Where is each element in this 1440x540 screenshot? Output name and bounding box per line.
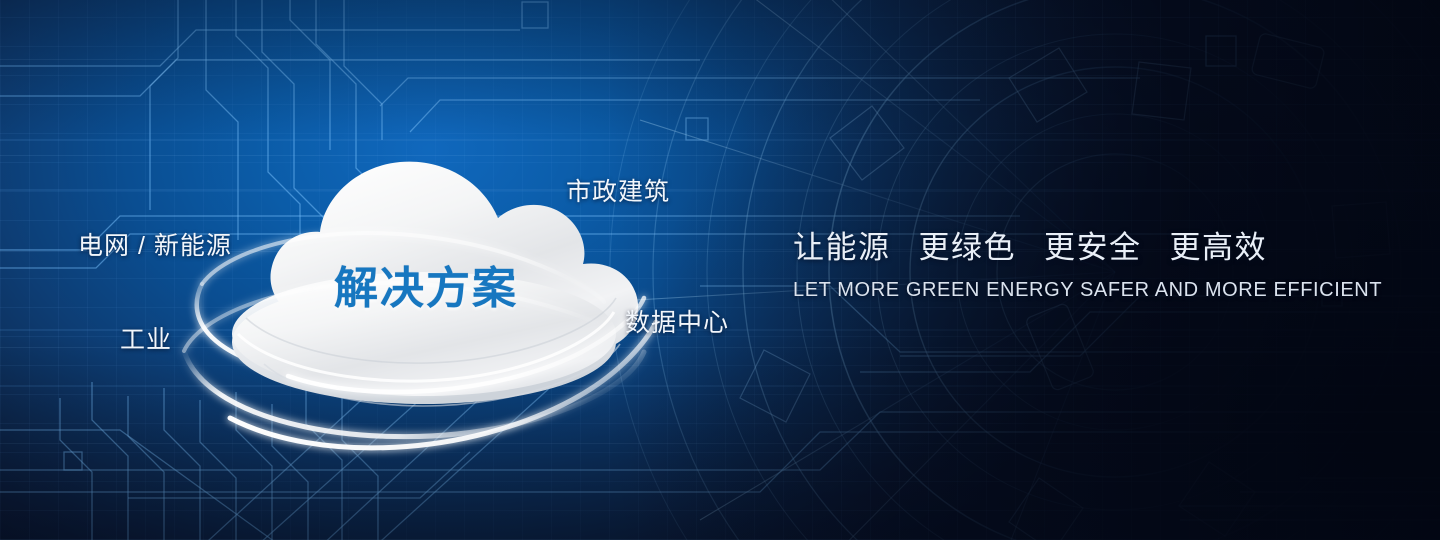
slogan-part-1: 让能源 (793, 222, 891, 267)
slogan-part-2: 更绿色 (919, 222, 1017, 267)
slogan-chinese: 让能源 更绿色 更安全 更高效 (793, 222, 1333, 267)
cloud-title: 解决方案 (334, 252, 518, 316)
slogan-block: 让能源 更绿色 更安全 更高效 LET MORE GREEN ENERGY SA… (793, 222, 1333, 302)
label-data-center: 数据中心 (625, 303, 729, 339)
label-grid-new-energy: 电网 / 新能源 (78, 226, 232, 262)
label-municipal-building: 市政建筑 (566, 172, 670, 208)
label-industry: 工业 (120, 320, 172, 356)
slogan-part-3: 更安全 (1044, 222, 1142, 267)
solution-hero-banner: 解决方案 电网 / 新能源 工业 市政建筑 数据中心 让能源 更绿色 更安全 更… (0, 0, 1440, 540)
slogan-english: LET MORE GREEN ENERGY SAFER AND MORE EFF… (793, 279, 1333, 302)
slogan-part-4: 更高效 (1170, 222, 1268, 267)
